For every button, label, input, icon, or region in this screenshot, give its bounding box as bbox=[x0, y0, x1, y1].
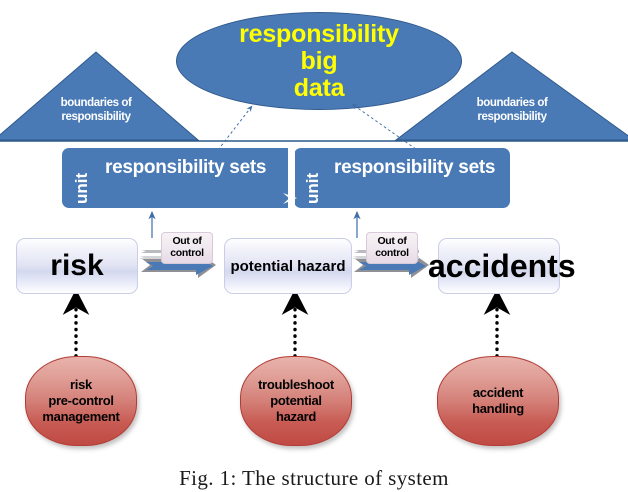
ooc-1-line-2: control bbox=[165, 247, 209, 259]
responsibility-box-left-unit: unit bbox=[72, 152, 92, 204]
triangle-left-line-1: boundaries of bbox=[31, 96, 161, 110]
out-of-control-label-1: Out of control bbox=[161, 232, 213, 264]
control-1-line-3: management bbox=[42, 409, 119, 425]
control-1-line-1: risk bbox=[70, 377, 92, 393]
ellipse-line-3: data bbox=[294, 75, 345, 102]
stage-box-risk[interactable]: risk bbox=[16, 238, 138, 294]
ellipse-line-2: big bbox=[301, 48, 338, 75]
triangle-left-label: boundaries of responsibility bbox=[31, 96, 161, 125]
control-risk-pre-control-management[interactable]: risk pre-control management bbox=[25, 356, 137, 446]
control-accident-handling[interactable]: accident handling bbox=[437, 356, 559, 446]
figure-caption: Fig. 1: The structure of system bbox=[0, 466, 628, 491]
ellipse-line-1: responsibility bbox=[239, 21, 399, 48]
control-2-line-3: hazard bbox=[276, 409, 316, 425]
stage-label-potential-hazard: potential hazard bbox=[230, 258, 345, 275]
control-2-line-2: potential bbox=[270, 393, 321, 409]
control-3-line-2: handling bbox=[472, 401, 524, 417]
responsibility-box-right-title: responsibility sets bbox=[334, 157, 495, 179]
dashed-connector-left bbox=[218, 106, 252, 150]
triangle-right-line-1: boundaries of bbox=[447, 96, 577, 110]
control-3-line-1: accident bbox=[473, 385, 523, 401]
ooc-2-line-2: control bbox=[370, 247, 414, 259]
stage-box-potential-hazard[interactable]: potential hazard bbox=[224, 238, 352, 294]
ooc-2-line-1: Out of bbox=[370, 235, 414, 247]
triangle-left-line-2: responsibility bbox=[31, 110, 161, 124]
stage-label-accidents: accidents bbox=[428, 248, 628, 285]
dashed-connector-right bbox=[352, 104, 420, 152]
control-troubleshoot-potential-hazard[interactable]: troubleshoot potential hazard bbox=[240, 356, 352, 446]
stage-label-risk: risk bbox=[50, 249, 103, 283]
figure-canvas: boundaries of responsibility boundaries … bbox=[0, 0, 628, 492]
control-1-line-2: pre-control bbox=[48, 393, 113, 409]
responsibility-big-data-ellipse[interactable]: responsibility big data bbox=[176, 12, 462, 110]
control-2-line-1: troubleshoot bbox=[258, 377, 334, 393]
responsibility-box-right-unit: unit bbox=[303, 152, 323, 204]
ooc-1-line-1: Out of bbox=[165, 235, 209, 247]
out-of-control-label-2: Out of control bbox=[366, 232, 418, 264]
triangle-right-label: boundaries of responsibility bbox=[447, 96, 577, 125]
triangle-right-line-2: responsibility bbox=[447, 110, 577, 124]
responsibility-box-left-title: responsibility sets bbox=[105, 157, 266, 179]
